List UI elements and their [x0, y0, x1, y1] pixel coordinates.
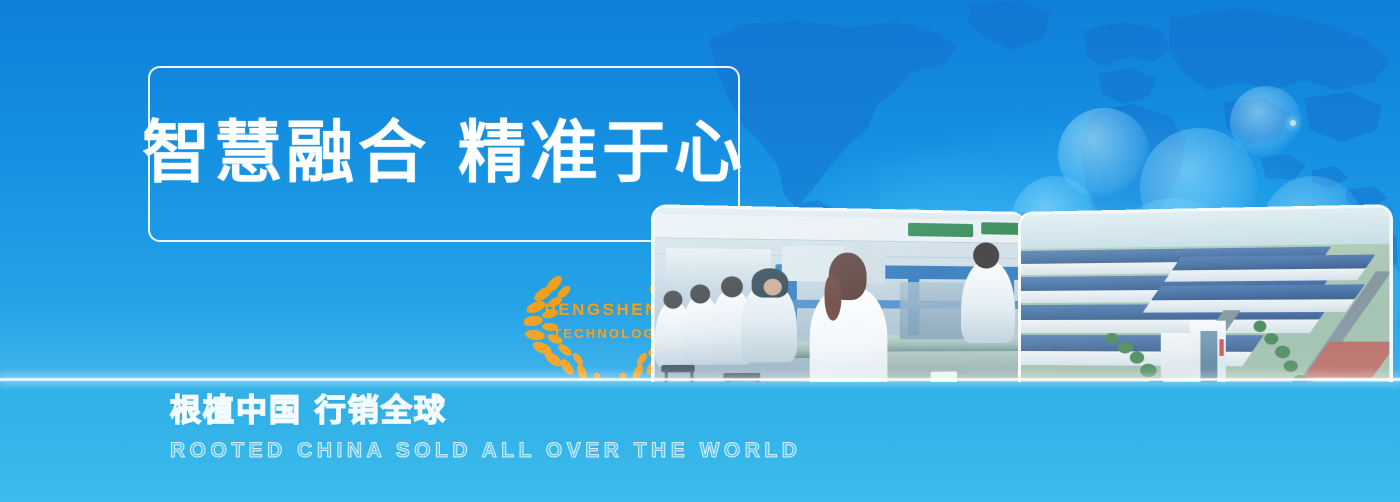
slogan-english: ROOTED CHINA SOLD ALL OVER THE WORLD: [170, 439, 730, 463]
page-title: 智慧融合 精准于心: [142, 120, 746, 188]
slogan-block: 根植中国 行销全球 ROOTED CHINA SOLD ALL OVER THE…: [170, 392, 730, 463]
promotional-banner: 智慧融合 精准于心: [0, 0, 1400, 502]
horizontal-divider: [0, 377, 1400, 382]
slogan-chinese: 根植中国 行销全球: [170, 392, 730, 431]
